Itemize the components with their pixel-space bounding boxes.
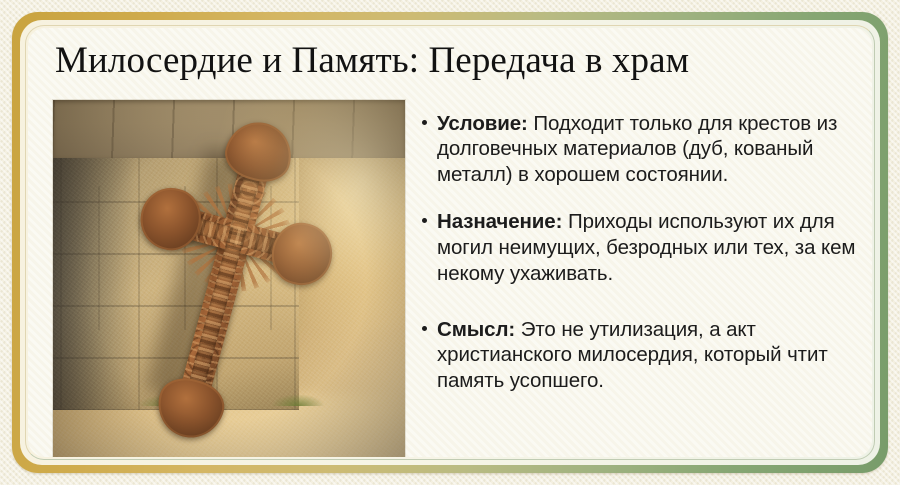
slide-root: Милосердие и Память: Передача в храм bbox=[0, 0, 900, 485]
bullet-list: Условие: Подходит только для крестов из … bbox=[420, 90, 860, 415]
slide-content-panel: Милосердие и Память: Передача в храм bbox=[28, 28, 872, 457]
bullet-lead: Условие: bbox=[437, 112, 528, 135]
list-item: Условие: Подходит только для крестов из … bbox=[420, 111, 860, 189]
page-title: Милосердие и Память: Передача в храм bbox=[55, 41, 865, 82]
list-item: Назначение: Приходы используют их для мо… bbox=[420, 209, 860, 287]
bullet-lead: Смысл: bbox=[437, 318, 515, 341]
photo-moss-2 bbox=[271, 394, 325, 406]
list-item: Смысл: Это не утилизация, а акт христиан… bbox=[420, 317, 860, 395]
bullet-lead: Назначение: bbox=[437, 210, 562, 233]
cross-photo bbox=[53, 100, 405, 457]
